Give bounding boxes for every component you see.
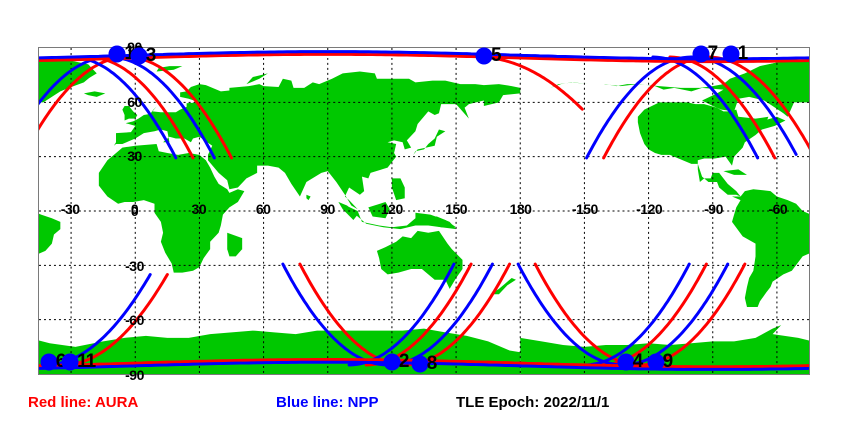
satellite-position-marker[interactable] <box>647 354 664 371</box>
x-tick-label: -90 <box>704 201 723 217</box>
ground-track-map: -300306090120150180-150-120-90-609060300… <box>0 0 850 425</box>
satellite-marker-label: 5 <box>491 45 501 67</box>
y-tick-label: 30 <box>127 148 142 164</box>
x-tick-label: 60 <box>256 201 271 217</box>
x-tick-label: -60 <box>768 201 787 217</box>
x-tick-label: 120 <box>381 201 403 217</box>
satellite-position-marker[interactable] <box>722 46 739 63</box>
y-tick-label: -60 <box>125 312 144 328</box>
satellite-position-marker[interactable] <box>62 354 79 371</box>
y-tick-label: -90 <box>125 367 144 383</box>
legend: Red line: AURA Blue line: NPP TLE Epoch:… <box>28 394 822 418</box>
satellite-position-marker[interactable] <box>130 48 147 65</box>
satellite-position-marker[interactable] <box>617 354 634 371</box>
y-tick-label: 60 <box>127 94 142 110</box>
satellite-marker-label: 3 <box>146 45 156 67</box>
satellite-position-marker[interactable] <box>692 46 709 63</box>
satellite-position-marker[interactable] <box>383 354 400 371</box>
satellite-marker-label: 4 <box>633 351 643 373</box>
y-tick-label: -30 <box>125 258 144 274</box>
satellite-position-marker[interactable] <box>109 46 126 63</box>
legend-tle-epoch: TLE Epoch: 2022/11/1 <box>456 394 609 411</box>
x-tick-label: 180 <box>510 201 532 217</box>
x-tick-label: 90 <box>320 201 335 217</box>
satellite-marker-label: 8 <box>427 353 437 375</box>
x-tick-label: -150 <box>572 201 598 217</box>
world-map-canvas <box>39 48 809 374</box>
satellite-position-marker[interactable] <box>40 354 57 371</box>
satellite-marker-label: 7 <box>708 43 718 65</box>
satellite-marker-label: 2 <box>399 351 409 373</box>
x-tick-label: -30 <box>61 201 80 217</box>
satellite-marker-label: 9 <box>663 351 673 373</box>
legend-blue-line: Blue line: NPP <box>276 394 379 411</box>
satellite-position-marker[interactable] <box>476 48 493 65</box>
plot-frame <box>38 47 810 375</box>
satellite-position-marker[interactable] <box>411 356 428 373</box>
legend-red-line: Red line: AURA <box>28 394 138 411</box>
x-tick-label: 150 <box>445 201 467 217</box>
x-tick-label: -120 <box>636 201 662 217</box>
y-tick-label: 0 <box>131 203 138 219</box>
x-tick-label: 30 <box>192 201 207 217</box>
satellite-marker-label: 11 <box>77 351 95 373</box>
satellite-marker-label: 1 <box>738 43 748 65</box>
